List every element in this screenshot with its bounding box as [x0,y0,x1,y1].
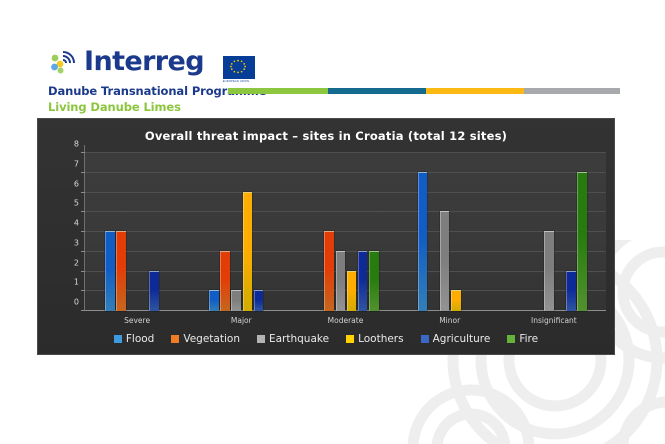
x-axis-category-label: Major [231,316,252,325]
bar-insignificant-fire [577,172,587,311]
bar-minor-loothers [451,290,461,311]
eu-logo: EUROPEAN UNION [217,50,255,83]
legend-swatch-icon [507,335,515,343]
y-axis-tick-label: 8 [74,140,79,149]
bar-major-earthquake [231,290,241,311]
legend-item-agriculture[interactable]: Agriculture [421,333,491,345]
bars-container [85,153,606,311]
bar-major-loothers [243,192,253,312]
slide: Interreg [0,0,665,444]
strip-segment-teal [328,88,426,94]
legend-swatch-icon [257,335,265,343]
y-axis-tick-mark [81,152,85,153]
strip-segment-yellow [426,88,524,94]
y-axis-tick-label: 4 [74,219,79,228]
chart-legend: FloodVegetationEarthquakeLoothersAgricul… [38,333,614,345]
y-axis-tick-mark [81,192,85,193]
brand-header: Interreg [48,46,628,112]
y-axis-tick-label: 2 [74,258,79,267]
y-axis-tick-label: 3 [74,238,79,247]
y-axis-tick-label: 6 [74,179,79,188]
x-axis-category-label: Moderate [328,316,364,325]
bar-moderate-loothers [347,271,357,312]
bar-major-vegetation [220,251,230,311]
brand-color-strip [228,88,620,94]
interreg-swirl-icon [48,48,78,78]
legend-swatch-icon [421,335,429,343]
legend-label: Flood [126,333,154,345]
legend-label: Earthquake [269,333,329,345]
bar-insignificant-earthquake [544,231,554,311]
bar-minor-flood [418,172,428,311]
legend-item-fire[interactable]: Fire [507,333,538,345]
bar-severe-vegetation [116,231,126,311]
legend-item-flood[interactable]: Flood [114,333,154,345]
eu-caption: EUROPEAN UNION [223,80,249,83]
bar-major-agriculture [254,290,264,311]
y-axis-tick-mark [81,271,85,272]
bar-moderate-earthquake [336,251,346,311]
bar-moderate-agriculture [358,251,368,311]
plot-area: 012345678SevereMajorModerateMinorInsigni… [85,153,606,311]
legend-label: Fire [519,333,538,345]
legend-swatch-icon [171,335,179,343]
y-axis-tick-mark [81,172,85,173]
bar-severe-agriculture [149,271,159,312]
y-axis-tick-label: 7 [74,159,79,168]
bar-insignificant-agriculture [566,271,576,312]
y-axis-tick-label: 0 [74,298,79,307]
chart-panel: Overall threat impact – sites in Croatia… [37,118,615,355]
legend-item-loothers[interactable]: Loothers [346,333,404,345]
y-axis-tick-mark [81,211,85,212]
brand-subtitle-project: Living Danube Limes [48,100,628,114]
logo-row: Interreg [48,46,628,83]
y-axis-tick-mark [81,310,85,311]
eu-flag-icon [223,56,255,79]
legend-label: Agriculture [433,333,491,345]
legend-item-earthquake[interactable]: Earthquake [257,333,329,345]
legend-item-vegetation[interactable]: Vegetation [171,333,240,345]
chart-title: Overall threat impact – sites in Croatia… [38,129,614,143]
bar-severe-flood [105,231,115,311]
y-axis-tick-label: 1 [74,278,79,287]
y-axis-tick-mark [81,231,85,232]
brand-name: Interreg [84,48,204,76]
legend-label: Loothers [358,333,404,345]
strip-segment-gray [524,88,620,94]
bar-moderate-fire [369,251,379,311]
legend-label: Vegetation [183,333,240,345]
x-axis-category-label: Minor [439,316,460,325]
bar-minor-earthquake [440,211,450,311]
strip-segment-green [228,88,328,94]
bar-moderate-vegetation [324,231,334,311]
bar-major-flood [209,290,219,311]
y-axis-tick-mark [81,251,85,252]
x-axis-category-label: Insignificant [531,316,577,325]
y-axis-tick-label: 5 [74,199,79,208]
legend-swatch-icon [114,335,122,343]
legend-swatch-icon [346,335,354,343]
x-axis-category-label: Severe [124,316,150,325]
y-axis-tick-mark [81,290,85,291]
